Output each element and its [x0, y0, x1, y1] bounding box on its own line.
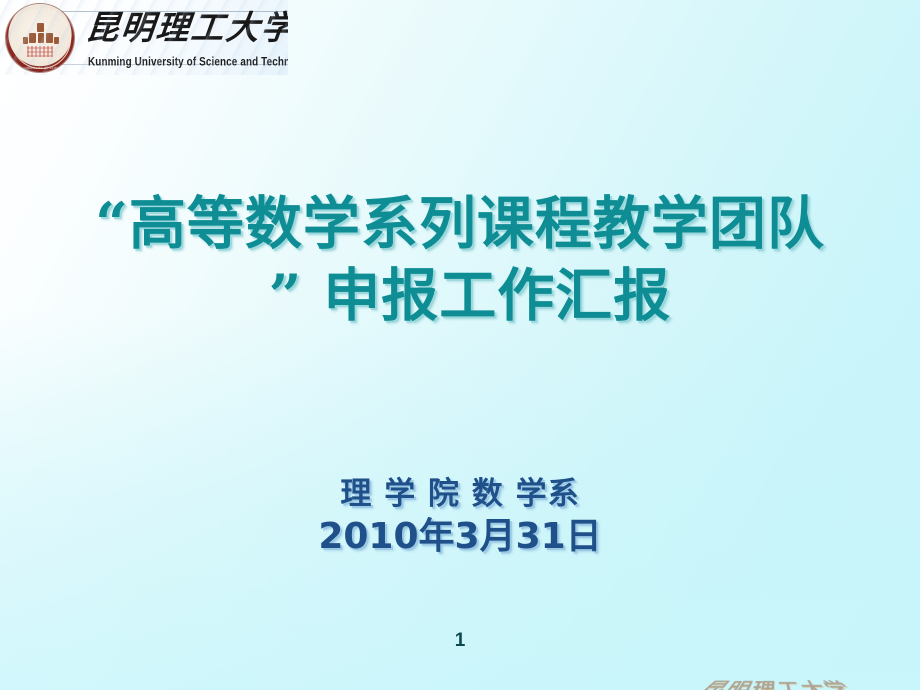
seal-stamp-mark: [27, 46, 53, 57]
watermark-text-front: 昆明理工大学: [681, 676, 873, 690]
university-name-english: Kunming University of Science and Techno…: [88, 55, 288, 69]
university-logo-band: 昆明理工大学 KUNMING UNIVERSITY OF SCIENCE AND…: [0, 0, 288, 75]
presentation-slide: 昆明理工大学 KUNMING UNIVERSITY OF SCIENCE AND…: [0, 0, 920, 690]
page-number: 1: [0, 630, 920, 652]
seal-block-5: [23, 37, 28, 44]
seal-block-3: [38, 33, 44, 43]
university-name-chinese: 昆明理工大学: [84, 9, 288, 47]
seal-arc-bottom-text: KUNMING UNIVERSITY OF SCIENCE AND TECHNO…: [6, 66, 74, 70]
seal-arc-top-text: 昆明理工大学: [6, 6, 74, 12]
slide-title-line-1: “高等数学系列课程教学团队: [0, 188, 920, 260]
subtitle-date: 2010年3月31日: [0, 514, 920, 560]
seal-block-4: [46, 33, 53, 43]
slide-title: “高等数学系列课程教学团队 ” 申报工作汇报: [0, 188, 920, 332]
subtitle-organization: 理 学 院 数 学系: [0, 474, 920, 514]
background-wash: [0, 0, 920, 690]
slide-title-line-2: ” 申报工作汇报: [0, 260, 920, 332]
seal-block-1: [37, 23, 44, 32]
seal-block-6: [54, 37, 59, 44]
seal-block-2: [29, 33, 36, 43]
university-seal-icon: 昆明理工大学 KUNMING UNIVERSITY OF SCIENCE AND…: [6, 4, 74, 72]
slide-subtitle: 理 学 院 数 学系 2010年3月31日: [0, 474, 920, 560]
